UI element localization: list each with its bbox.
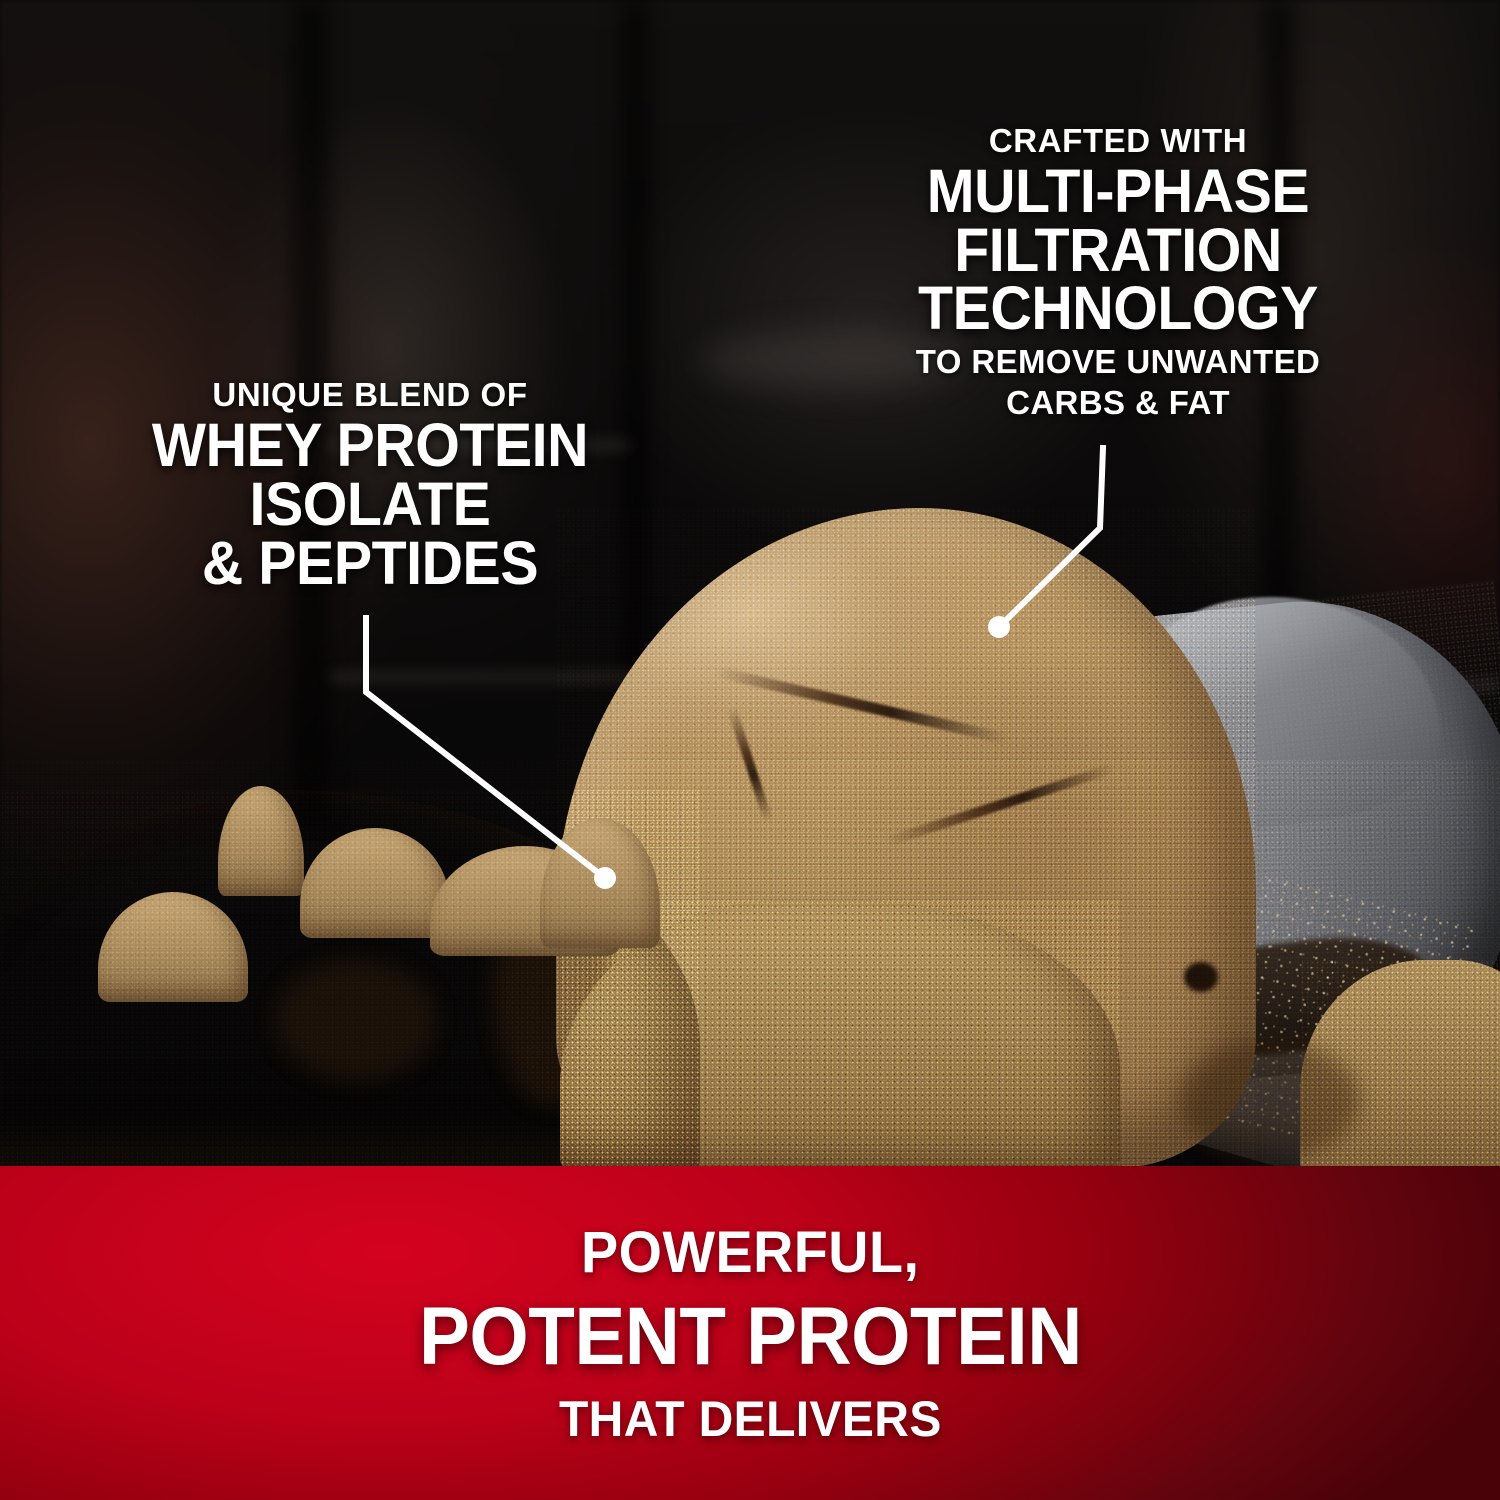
- banner-line-3: THAT DELIVERS: [559, 1390, 942, 1448]
- leader-dot-filtration-tech: [988, 616, 1010, 638]
- callout-subtext-line-1: TO REMOVE UNWANTED: [828, 345, 1408, 379]
- leader-dot-whey-blend: [594, 867, 616, 889]
- callout-headline-line-2: ISOLATE: [88, 475, 652, 534]
- callout-headline-line-3: TECHNOLOGY: [845, 279, 1390, 338]
- callout-headline-line-2: FILTRATION: [845, 221, 1390, 280]
- leader-line-whey-blend: [366, 618, 605, 878]
- callout-headline-line-3: & PEPTIDES: [88, 534, 652, 593]
- product-infographic: CRAFTED WITH MULTI-PHASE FILTRATION TECH…: [0, 0, 1500, 1500]
- callout-eyebrow: UNIQUE BLEND OF: [70, 378, 670, 411]
- banner-line-1: POWERFUL,: [581, 1219, 919, 1286]
- product-photo: CRAFTED WITH MULTI-PHASE FILTRATION TECH…: [0, 0, 1500, 1166]
- callout-headline-line-1: MULTI-PHASE: [845, 162, 1390, 221]
- callout-eyebrow: CRAFTED WITH: [828, 124, 1408, 157]
- leader-line-filtration-tech: [999, 448, 1103, 627]
- callout-whey-blend: UNIQUE BLEND OF WHEY PROTEIN ISOLATE & P…: [70, 378, 670, 593]
- bottom-tagline-banner: POWERFUL, POTENT PROTEIN THAT DELIVERS: [0, 1166, 1500, 1500]
- callout-filtration-tech: CRAFTED WITH MULTI-PHASE FILTRATION TECH…: [828, 124, 1408, 420]
- banner-line-2: POTENT PROTEIN: [419, 1290, 1082, 1384]
- callout-subtext-line-2: CARBS & FAT: [828, 386, 1408, 420]
- callout-headline-line-1: WHEY PROTEIN: [88, 416, 652, 475]
